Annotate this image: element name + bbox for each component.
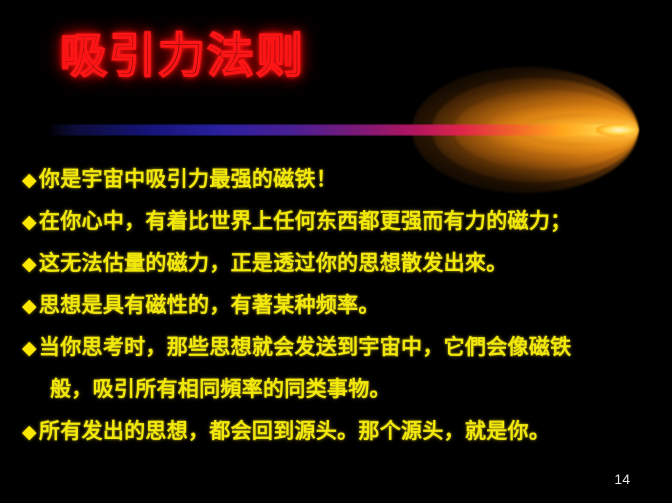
bullet-line-text: 思想是具有磁性的，有著某种频率。	[39, 289, 380, 319]
comet-halo-3	[454, 90, 638, 170]
bullet-line-text: 所有发出的思想，都会回到源头。那个源头，就是你。	[39, 415, 550, 445]
diamond-bullet-icon: ◆	[22, 213, 37, 232]
bullet-list: ◆ 你是宇宙中吸引力最强的磁铁！ ◆ 在你心中，有着比世界上任何东西都更强而有力…	[0, 163, 672, 457]
bullet-line-continuation: 般，吸引所有相同頻率的同类事物。	[0, 373, 672, 415]
comet-beam	[46, 125, 632, 136]
bullet-line-text: 在你心中，有着比世界上任何东西都更强而有力的磁力；	[39, 205, 572, 235]
presentation-slide: 吸引力法则 ◆ 你是宇宙中吸引力最强的磁铁！ ◆ 在你心中，有着比世界上任何东西…	[0, 0, 672, 503]
slide-title: 吸引力法则	[60, 32, 305, 81]
diamond-bullet-icon: ◆	[22, 171, 37, 190]
comet-halo-inner	[520, 114, 638, 146]
bullet-line: ◆ 你是宇宙中吸引力最强的磁铁！	[0, 163, 672, 205]
diamond-bullet-icon: ◆	[22, 297, 37, 316]
bullet-line-text: 当你思考时，那些思想就会发送到宇宙中，它們会像磁铁	[39, 331, 572, 361]
diamond-bullet-icon: ◆	[22, 423, 37, 442]
bullet-line-text: 这无法估量的磁力，正是透过你的思想散发出來。	[39, 247, 508, 277]
diamond-bullet-icon: ◆	[22, 339, 37, 358]
bullet-line: ◆ 在你心中，有着比世界上任何东西都更强而有力的磁力；	[0, 205, 672, 247]
bullet-line: ◆ 当你思考时，那些思想就会发送到宇宙中，它們会像磁铁	[0, 331, 672, 373]
diamond-bullet-icon: ◆	[22, 255, 37, 274]
bullet-line-text: 般，吸引所有相同頻率的同类事物。	[50, 373, 391, 403]
comet-halo-2	[486, 103, 638, 157]
bullet-line: ◆ 这无法估量的磁力，正是透过你的思想散发出來。	[0, 247, 672, 289]
comet-beam-tip	[596, 124, 638, 137]
bullet-line: ◆ 思想是具有磁性的，有著某种频率。	[0, 289, 672, 331]
page-number: 14	[614, 471, 630, 487]
bullet-line: ◆ 所有发出的思想，都会回到源头。那个源头，就是你。	[0, 415, 672, 457]
bullet-line-text: 你是宇宙中吸引力最强的磁铁！	[39, 163, 337, 193]
